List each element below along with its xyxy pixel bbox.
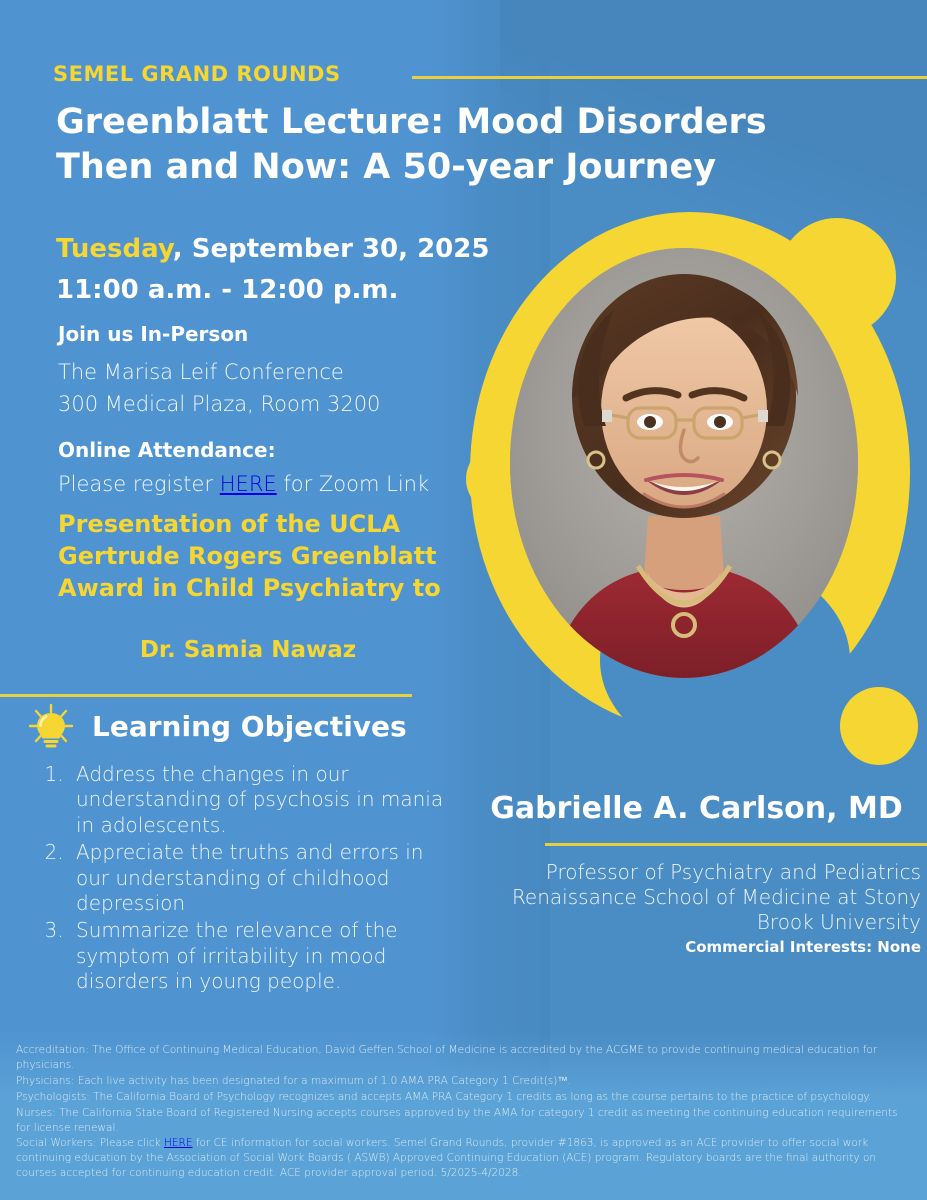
register-prefix: Please register [58,472,220,496]
footer-social-workers: Social Workers: Please click HERE for CE… [16,1136,911,1181]
footer-here-link[interactable]: HERE [164,1137,192,1149]
learning-objectives-title: Learning Objectives [92,710,407,743]
title-line-1: Greenblatt Lecture: Mood Disorders [56,100,816,145]
footer-physicians: Physicians: Each live activity has been … [16,1074,911,1089]
lightbulb-icon [26,702,76,752]
speaker-affiliation-line-1: Professor of Psychiatry and Pediatrics [466,860,921,885]
footer-nurses: Nurses: The California State Board of Re… [16,1106,911,1136]
event-time: 11:00 a.m. - 12:00 p.m. [56,275,398,305]
speaker-photo [510,248,858,678]
footer-sw-prefix: Social Workers: Please click [16,1137,164,1149]
header-divider [412,76,927,79]
register-line: Please register HERE for Zoom Link [58,472,429,496]
eyebrow-label: SEMEL GRAND ROUNDS [53,62,341,86]
page-title: Greenblatt Lecture: Mood Disorders Then … [56,100,816,190]
portrait-illustration [510,248,858,678]
speaker-name: Gabrielle A. Carlson, MD [466,791,927,826]
award-line-3: Award in Child Psychiatry to [58,572,448,604]
award-announcement: Presentation of the UCLA Gertrude Rogers… [58,508,448,604]
title-line-2: Then and Now: A 50-year Journey [56,145,816,190]
list-item: Summarize the relevance of the symptom o… [70,918,450,994]
event-date: Tuesday, September 30, 2025 [56,234,489,264]
speaker-affiliation: Professor of Psychiatry and Pediatrics R… [466,860,921,936]
event-date-rest: , September 30, 2025 [173,234,490,264]
learning-objectives-divider [0,694,412,697]
event-day: Tuesday [56,234,173,264]
online-attendance-heading: Online Attendance: [58,438,276,462]
award-line-2: Gertrude Rogers Greenblatt [58,540,448,572]
yellow-circle-bottom-right [840,687,918,765]
award-line-1: Presentation of the UCLA [58,508,448,540]
register-here-link[interactable]: HERE [220,472,277,496]
poster-root: SEMEL GRAND ROUNDS Greenblatt Lecture: M… [0,0,927,1200]
venue-line-2: 300 Medical Plaza, Room 3200 [58,392,380,416]
venue-line-1: The Marisa Leif Conference [58,360,344,384]
speaker-affiliation-line-2: Renaissance School of Medicine at Stony [466,885,921,910]
list-item: Address the changes in our understanding… [70,762,450,838]
speaker-affiliation-line-3: Brook University [466,910,921,935]
register-suffix: for Zoom Link [277,472,429,496]
speaker-divider [545,843,927,846]
footer-accreditation: Accreditation: The Office of Continuing … [16,1043,911,1073]
learning-objectives-list: Address the changes in our understanding… [38,762,450,997]
list-item: Appreciate the truths and errors in our … [70,840,450,916]
accreditation-footer: Accreditation: The Office of Continuing … [16,1043,911,1182]
commercial-interests: Commercial Interests: None [466,938,921,956]
award-recipient: Dr. Samia Nawaz [58,637,438,663]
footer-psychologists: Psychologists: The California Board of P… [16,1090,911,1105]
in-person-heading: Join us In-Person [58,322,248,346]
